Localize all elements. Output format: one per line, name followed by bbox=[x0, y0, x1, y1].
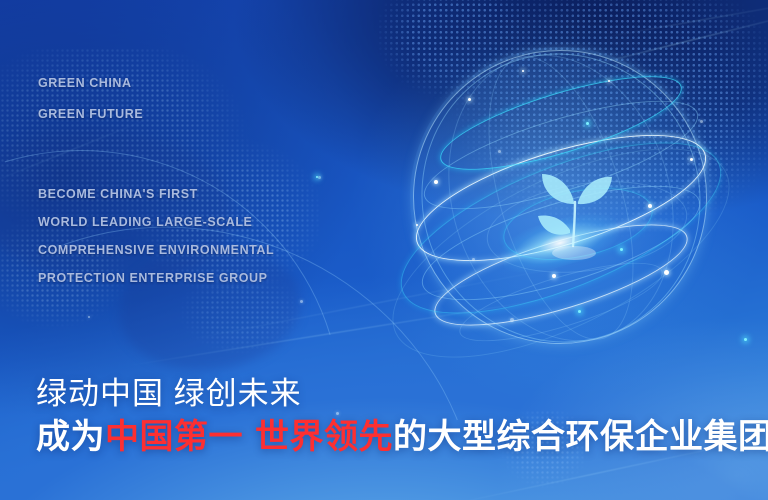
ambient-sparkle bbox=[744, 338, 747, 341]
mission-line-4: PROTECTION ENTERPRISE GROUP bbox=[38, 271, 274, 285]
globe-sparkle bbox=[522, 70, 524, 72]
globe-sparkle bbox=[510, 318, 514, 322]
globe-sparkle bbox=[648, 204, 652, 208]
globe-sparkle bbox=[468, 98, 471, 101]
slogan-line-1: GREEN CHINA bbox=[38, 76, 143, 90]
sprout-seedling-icon bbox=[530, 158, 616, 263]
headline-suffix: 的大型综合环保企业集团 bbox=[393, 418, 768, 456]
ambient-sparkle bbox=[318, 176, 321, 179]
slogan-block: GREEN CHINA GREEN FUTURE bbox=[38, 76, 143, 121]
globe-sparkle bbox=[620, 248, 623, 251]
globe-sparkle bbox=[578, 310, 581, 313]
mission-line-1: BECOME CHINA'S FIRST bbox=[38, 187, 274, 201]
globe-sparkle bbox=[690, 158, 693, 161]
headline-highlight-world-leading: 世界领先 bbox=[255, 418, 393, 456]
ambient-sparkle bbox=[300, 300, 303, 303]
headline-prefix: 成为 bbox=[36, 418, 105, 456]
globe-sparkle bbox=[552, 274, 556, 278]
mission-line-3: COMPREHENSIVE ENVIRONMENTAL bbox=[38, 243, 274, 257]
mission-block: BECOME CHINA'S FIRST WORLD LEADING LARGE… bbox=[38, 187, 274, 285]
headline-chinese-line-2: 成为中国第一世界领先的大型综合环保企业集团 bbox=[36, 409, 768, 458]
slogan-line-2: GREEN FUTURE bbox=[38, 107, 143, 121]
ambient-sparkle bbox=[88, 316, 90, 318]
globe-sparkle bbox=[416, 224, 418, 226]
ambient-sparkle bbox=[316, 176, 318, 178]
ambient-sparkle bbox=[700, 120, 703, 123]
globe-sparkle bbox=[664, 270, 669, 275]
globe-sparkle bbox=[586, 122, 589, 125]
headline-highlight-china-first: 中国第一 bbox=[105, 418, 243, 456]
banner-canvas: GREEN CHINA GREEN FUTURE BECOME CHINA'S … bbox=[0, 0, 768, 500]
globe-sparkle bbox=[608, 80, 610, 82]
globe-sparkle bbox=[498, 150, 501, 153]
wireframe-globe bbox=[372, 18, 748, 376]
mission-line-2: WORLD LEADING LARGE-SCALE bbox=[38, 215, 274, 229]
globe-sparkle bbox=[434, 180, 438, 184]
globe-sparkle bbox=[472, 258, 475, 261]
headline-chinese-line-1: 绿动中国 绿创未来 bbox=[36, 368, 302, 413]
